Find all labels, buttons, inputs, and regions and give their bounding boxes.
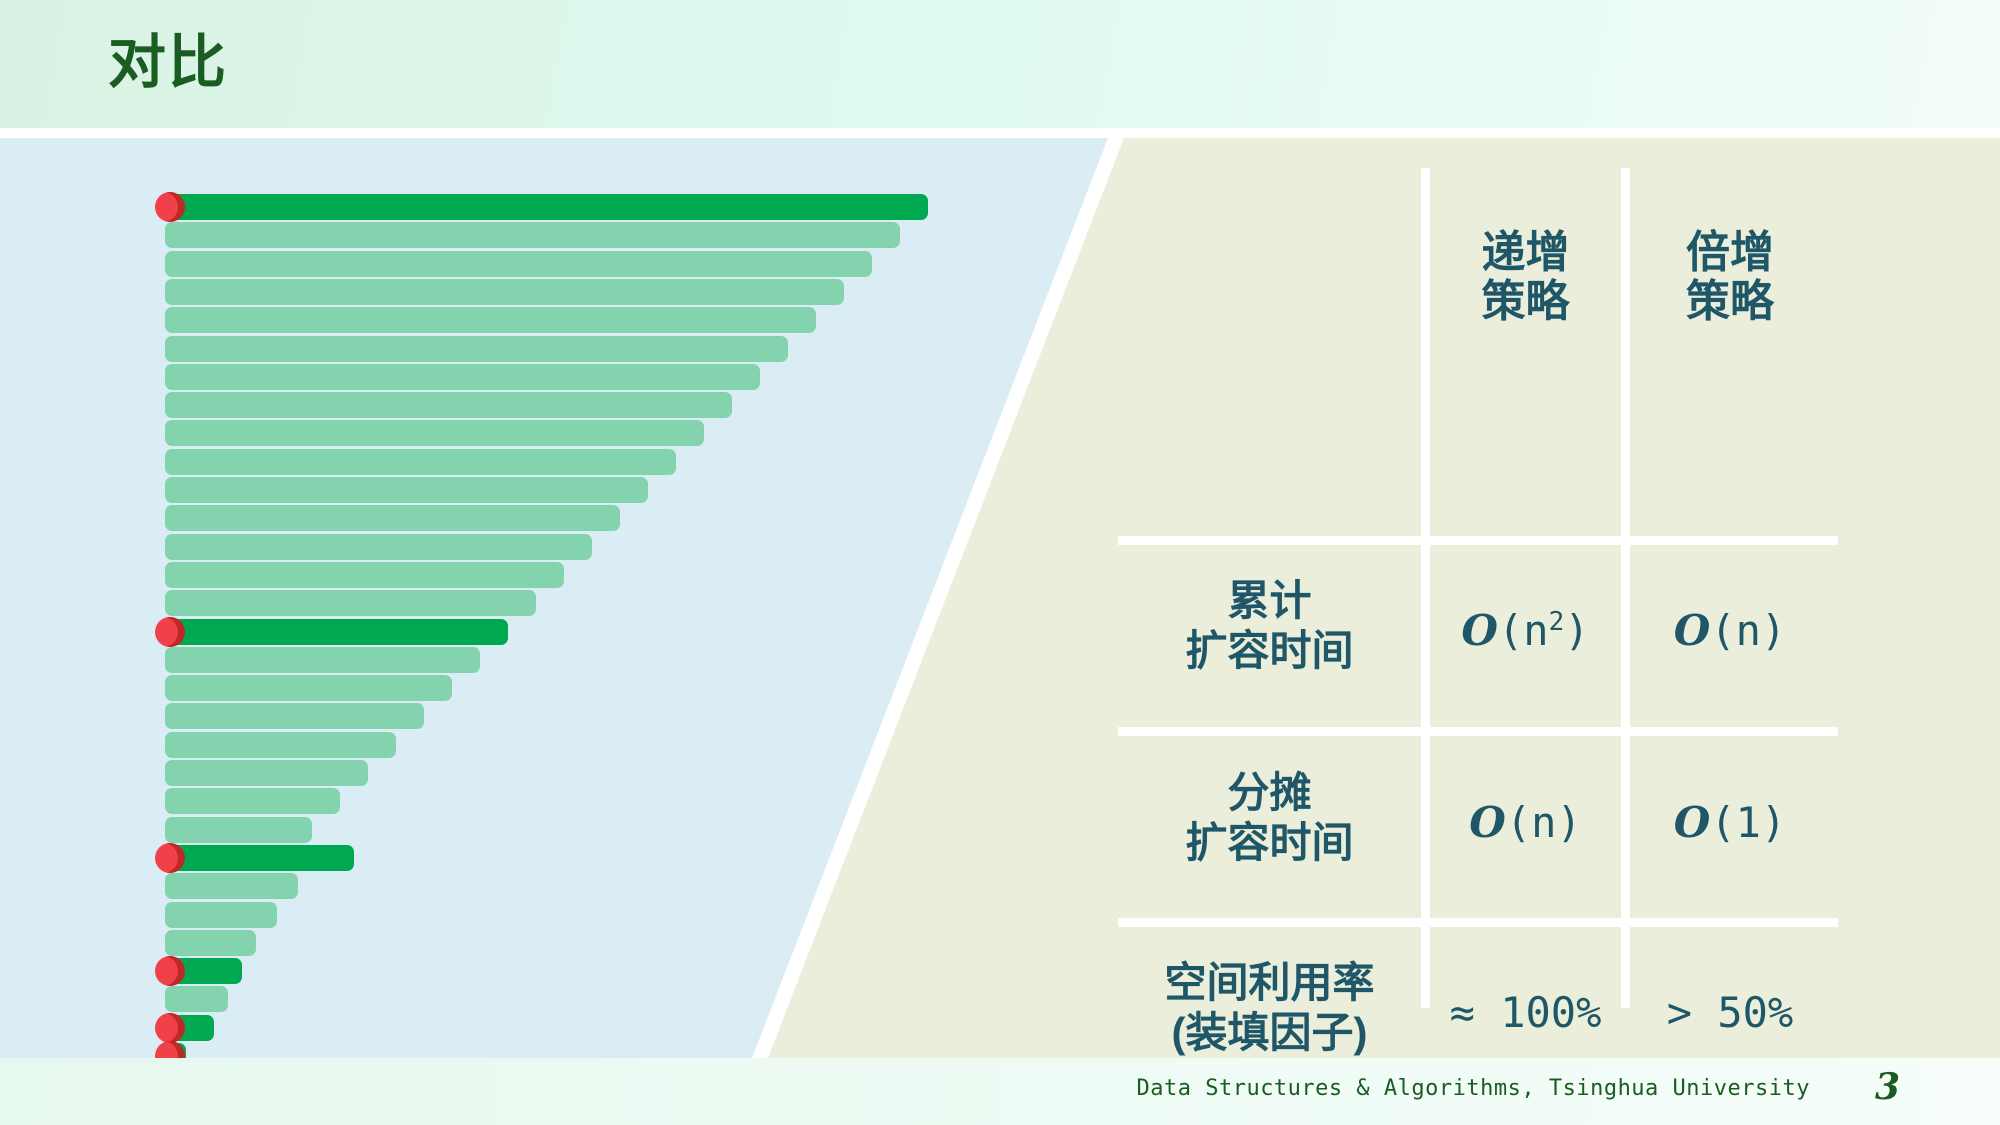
page-number: 3 — [1875, 1066, 1900, 1108]
row-label-amortized-expansion-time: 分摊 扩容时间 — [1118, 768, 1421, 869]
bar — [165, 703, 424, 729]
reallocation-marker-icon — [155, 617, 185, 647]
bar — [165, 902, 277, 928]
bar-highlighted — [165, 619, 508, 645]
slide-body: 递增 策略 倍增 策略 累计 扩容时间 分摊 扩容时间 空间利用率 (装填因子)… — [0, 138, 2000, 1058]
table-horizontal-divider-1 — [1118, 536, 1838, 545]
bar — [165, 449, 676, 475]
bar — [165, 647, 480, 673]
bar — [165, 279, 844, 305]
bar — [165, 675, 452, 701]
row-label-total-expansion-time: 累计 扩容时间 — [1118, 576, 1421, 677]
reallocation-marker-icon — [155, 192, 185, 222]
cell-text: (n — [1498, 606, 1549, 655]
cell-incremental-total-time: O(n2) — [1430, 606, 1621, 655]
bar — [165, 505, 620, 531]
cell-text: (1) — [1710, 798, 1786, 847]
bar-highlighted — [165, 845, 354, 871]
cell-doubling-total-time: O(n) — [1630, 606, 1830, 655]
bar — [165, 930, 256, 956]
page-title: 对比 — [108, 30, 228, 97]
table-vertical-divider-1 — [1421, 168, 1430, 1008]
bar — [165, 336, 788, 362]
bar — [165, 477, 648, 503]
big-o-symbol: O — [1674, 606, 1711, 655]
cell-text: (n) — [1710, 606, 1786, 655]
bar — [165, 562, 564, 588]
bar — [165, 873, 298, 899]
bar — [165, 534, 592, 560]
bar — [165, 590, 536, 616]
bar — [165, 420, 704, 446]
bar — [165, 732, 396, 758]
exponent: 2 — [1549, 607, 1565, 637]
table-horizontal-divider-2 — [1118, 727, 1838, 736]
slide-root: 对比 递增 策略 倍增 策略 累计 扩容时间 分摊 扩容时间 空间利用率 (装填… — [0, 0, 2000, 1125]
footer-credit: Data Structures & Algorithms, Tsinghua U… — [1136, 1076, 1810, 1101]
slide-footer: Data Structures & Algorithms, Tsinghua U… — [0, 1058, 2000, 1125]
incremental-growth-bar-chart — [0, 138, 1100, 1058]
comparison-table: 递增 策略 倍增 策略 累计 扩容时间 分摊 扩容时间 空间利用率 (装填因子)… — [1118, 168, 1838, 1008]
bar — [165, 788, 340, 814]
cell-text: (n) — [1506, 798, 1582, 847]
bar — [165, 364, 760, 390]
bar — [165, 760, 368, 786]
bar — [165, 251, 872, 277]
column-header-incremental: 递增 策略 — [1430, 228, 1621, 327]
big-o-symbol: O — [1674, 798, 1711, 847]
column-header-doubling: 倍增 策略 — [1630, 228, 1830, 327]
cell-doubling-space-utilization: > 50% — [1630, 988, 1830, 1037]
row-label-space-utilization: 空间利用率 (装填因子) — [1118, 958, 1421, 1058]
cell-incremental-space-utilization: ≈ 100% — [1430, 988, 1621, 1037]
bar-highlighted — [165, 194, 928, 220]
reallocation-marker-icon — [155, 1013, 185, 1043]
bar — [165, 392, 732, 418]
big-o-symbol: O — [1461, 606, 1498, 655]
cell-text-tail: ) — [1564, 606, 1589, 655]
table-vertical-divider-2 — [1621, 168, 1630, 1008]
reallocation-marker-icon — [155, 956, 185, 986]
cell-doubling-amortized-time: O(1) — [1630, 798, 1830, 847]
bar — [165, 307, 816, 333]
cell-incremental-amortized-time: O(n) — [1430, 798, 1621, 847]
slide-header: 对比 — [0, 0, 2000, 128]
bar — [165, 986, 228, 1012]
bar — [165, 817, 312, 843]
table-horizontal-divider-3 — [1118, 918, 1838, 927]
big-o-symbol: O — [1469, 798, 1506, 847]
bar — [165, 222, 900, 248]
reallocation-marker-icon — [155, 843, 185, 873]
